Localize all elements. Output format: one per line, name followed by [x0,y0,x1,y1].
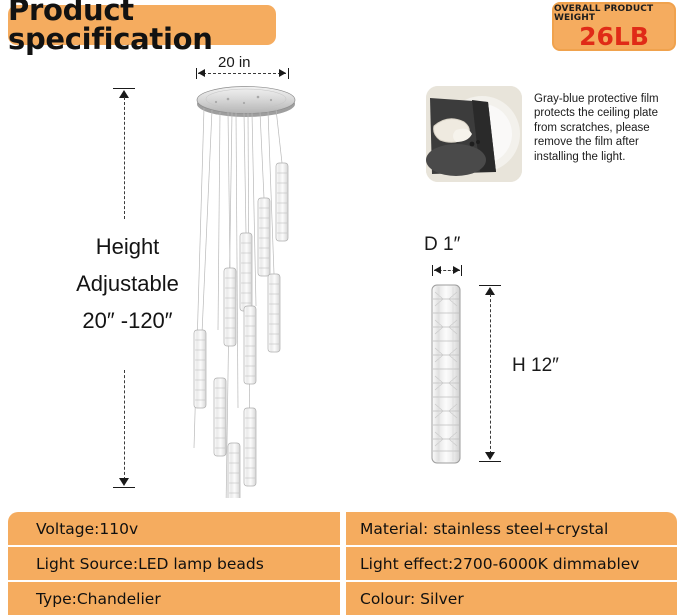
chandelier-illustration [178,78,314,498]
crystal-tube [276,163,288,241]
product-specification-sheet: Product specification OVERALL PRODUCT WE… [0,0,679,615]
crystal-height-label: H 12″ [512,355,559,377]
crystal-tube [214,378,226,456]
crystal-tube [240,233,252,311]
crystal-tube [258,198,270,276]
crystal-height-bottom-arrow [485,452,495,460]
page-title-banner: Product specification [8,5,276,45]
table-row: Type:Chandelier [8,582,340,615]
table-row: Colour: Silver [346,582,677,615]
crystal-tube [228,443,240,498]
weight-badge-value: 26LB [579,24,649,49]
crystal-diameter-label: D 1″ [424,234,460,256]
height-bottom-arrow [119,478,129,486]
crystal-tube [268,274,280,352]
protective-film-note: Gray-blue protective film protects the c… [534,92,679,164]
crystal-tube [244,408,256,486]
crystal-tube [244,306,256,384]
overall-weight-badge: OVERALL PRODUCT WEIGHT 26LB [552,2,676,51]
plate-width-right-arrow [279,69,286,77]
plate-width-label: 20 in [218,54,251,71]
film-photo-graphic [426,86,522,182]
crystal-diameter-right-cap [461,265,462,276]
table-row: Material: stainless steel+crystal [346,512,677,545]
plate-width-left-arrow [198,69,205,77]
crystal-height-bottom-cap [479,461,501,462]
crystal-tube-detail [430,283,462,465]
weight-badge-label: OVERALL PRODUCT WEIGHT [554,5,674,23]
crystal-diameter-left-arrow [434,266,441,274]
table-row: Light Source:LED lamp beads [8,547,340,580]
crystal-tubes [194,163,288,498]
table-row: Light effect:2700-6000K dimmablev [346,547,677,580]
page-title: Product specification [8,0,276,54]
height-dimension-line-upper [124,97,125,219]
height-bottom-cap [113,487,135,488]
protective-film-photo [426,86,522,182]
height-dimension-line-lower [124,370,125,480]
crystal-tube [224,268,236,346]
plate-width-dimension-line [198,73,286,74]
table-row: Voltage:110v [8,512,340,545]
crystal-tube [194,330,206,408]
crystal-diameter-left-cap [432,265,433,276]
crystal-height-top-cap [479,285,501,286]
height-top-cap [113,88,135,89]
specification-table: Voltage:110v Material: stainless steel+c… [8,512,671,615]
crystal-diameter-right-arrow [453,266,460,274]
crystal-height-line [490,294,491,454]
